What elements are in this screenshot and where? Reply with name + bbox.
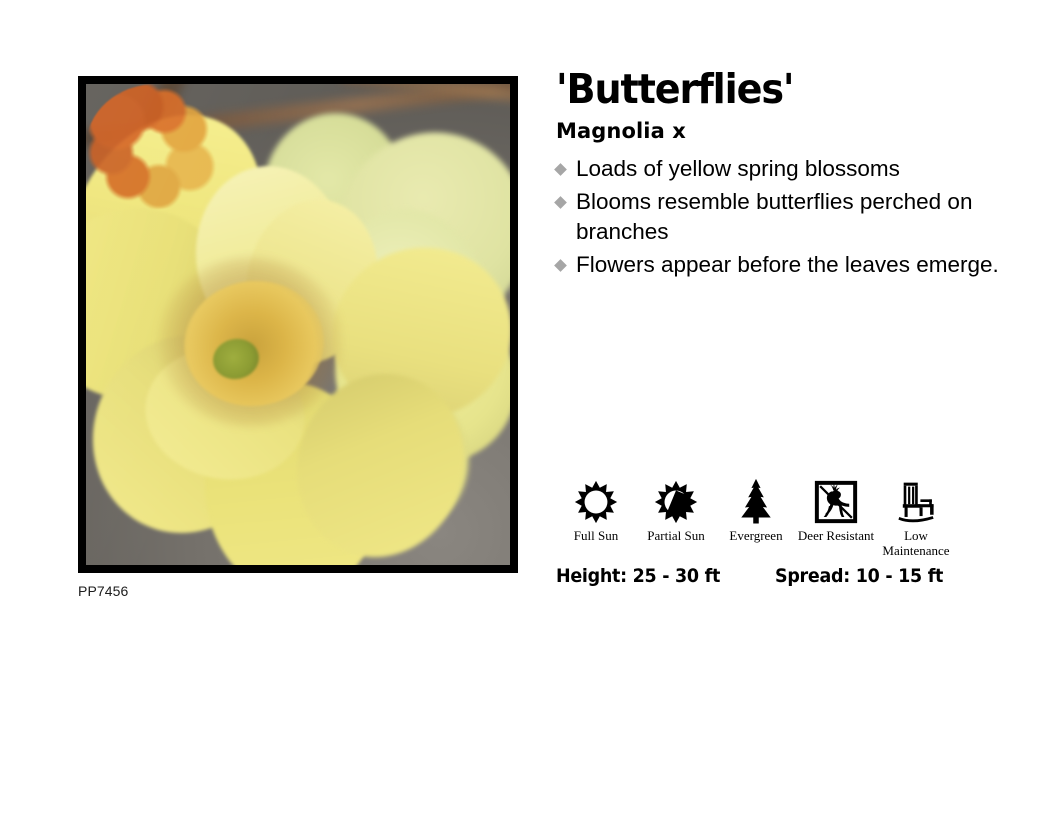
attribute-label: Full Sun	[556, 528, 636, 543]
stamen-anthers	[86, 84, 226, 209]
attribute-full-sun: Full Sun	[556, 478, 636, 543]
list-item: Flowers appear before the leaves emerge.	[556, 250, 1026, 281]
spread-text: Spread: 10 - 15 ft	[775, 565, 943, 587]
attribute-deer-resistant: Deer Resistant	[796, 478, 876, 543]
botanical-name: Magnolia x	[556, 118, 1026, 144]
attribute-label: Evergreen	[716, 528, 796, 543]
plant-photo-frame	[78, 76, 518, 573]
attribute-label: Low Maintenance	[876, 528, 956, 558]
plant-photo	[86, 84, 510, 565]
list-item: Loads of yellow spring blossoms	[556, 154, 1026, 185]
diamond-bullet-icon	[554, 163, 567, 176]
attribute-icon-row: Full Sun Partial Sun Evergreen	[556, 478, 956, 558]
feature-list: Loads of yellow spring blossoms Blooms r…	[556, 154, 1026, 280]
attribute-partial-sun: Partial Sun	[636, 478, 716, 543]
feature-text: Flowers appear before the leaves emerge.	[576, 252, 999, 277]
rocking-chair-icon	[876, 478, 956, 524]
full-sun-icon	[556, 478, 636, 524]
deer-resistant-icon	[796, 478, 876, 524]
feature-text: Loads of yellow spring blossoms	[576, 156, 900, 181]
diamond-bullet-icon	[554, 259, 567, 272]
attribute-low-maintenance: Low Maintenance	[876, 478, 956, 558]
partial-sun-icon	[636, 478, 716, 524]
page-title: 'Butterflies'	[556, 66, 993, 112]
attribute-label: Deer Resistant	[796, 528, 876, 543]
plant-patent-code: PP7456	[78, 583, 128, 599]
evergreen-tree-icon	[716, 478, 796, 524]
feature-text: Blooms resemble butterflies perched on b…	[576, 189, 972, 245]
attribute-label: Partial Sun	[636, 528, 716, 543]
height-text: Height: 25 - 30 ft	[556, 565, 720, 587]
diamond-bullet-icon	[554, 196, 567, 209]
plant-info-column: 'Butterflies' Magnolia x Loads of yellow…	[556, 66, 1026, 296]
attribute-evergreen: Evergreen	[716, 478, 796, 543]
list-item: Blooms resemble butterflies perched on b…	[556, 187, 1026, 248]
